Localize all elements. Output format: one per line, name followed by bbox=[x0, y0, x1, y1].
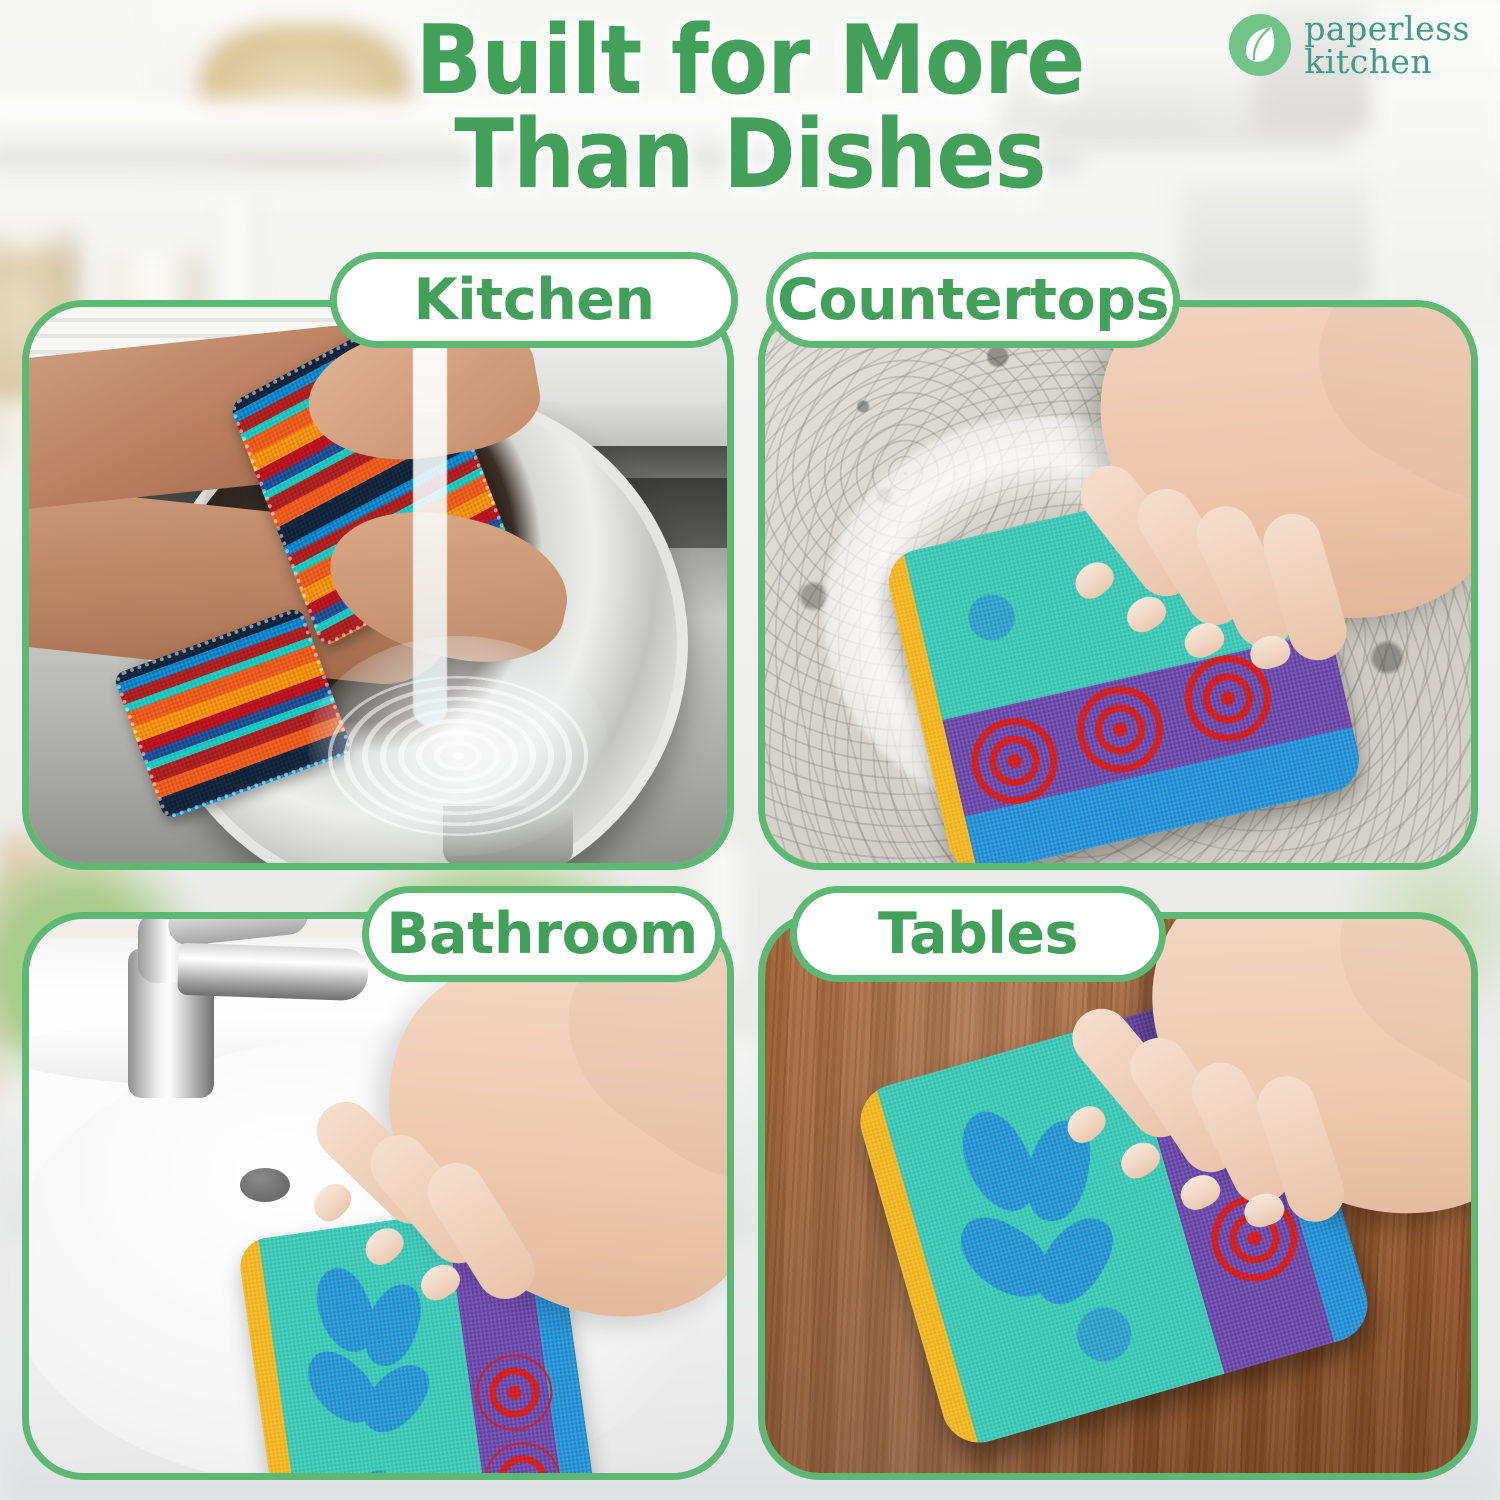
panel-countertops[interactable] bbox=[758, 300, 1478, 870]
label-bathroom[interactable]: Bathroom bbox=[362, 886, 722, 982]
sink-overflow-drain bbox=[240, 1168, 290, 1202]
brand-name-line1: paperless bbox=[1304, 12, 1470, 45]
brand-name: paperless kitchen bbox=[1304, 12, 1470, 78]
bathroom-photo bbox=[28, 918, 728, 1474]
panel-tables[interactable] bbox=[758, 912, 1478, 1480]
kitchen-photo bbox=[28, 306, 728, 864]
use-case-grid bbox=[22, 258, 1478, 1480]
label-kitchen[interactable]: Kitchen bbox=[330, 252, 738, 348]
faucet-spout bbox=[177, 943, 369, 1002]
brand-name-line2: kitchen bbox=[1304, 45, 1470, 78]
background-hood-knobs bbox=[1075, 112, 1205, 126]
kitchen-water-stream bbox=[413, 306, 447, 726]
tables-photo bbox=[764, 918, 1472, 1474]
brand-logo: paperless kitchen bbox=[1229, 12, 1470, 78]
countertops-photo bbox=[764, 306, 1472, 864]
label-countertops[interactable]: Countertops bbox=[766, 252, 1180, 348]
label-tables[interactable]: Tables bbox=[790, 886, 1166, 982]
panel-kitchen[interactable] bbox=[22, 300, 734, 870]
panel-bathroom[interactable] bbox=[22, 912, 734, 1480]
background-shelf bbox=[0, 100, 1080, 170]
background-shelf-underside bbox=[0, 168, 1040, 204]
leaf-in-circle-icon bbox=[1229, 14, 1291, 76]
kitchen-water-ripples bbox=[328, 676, 588, 836]
